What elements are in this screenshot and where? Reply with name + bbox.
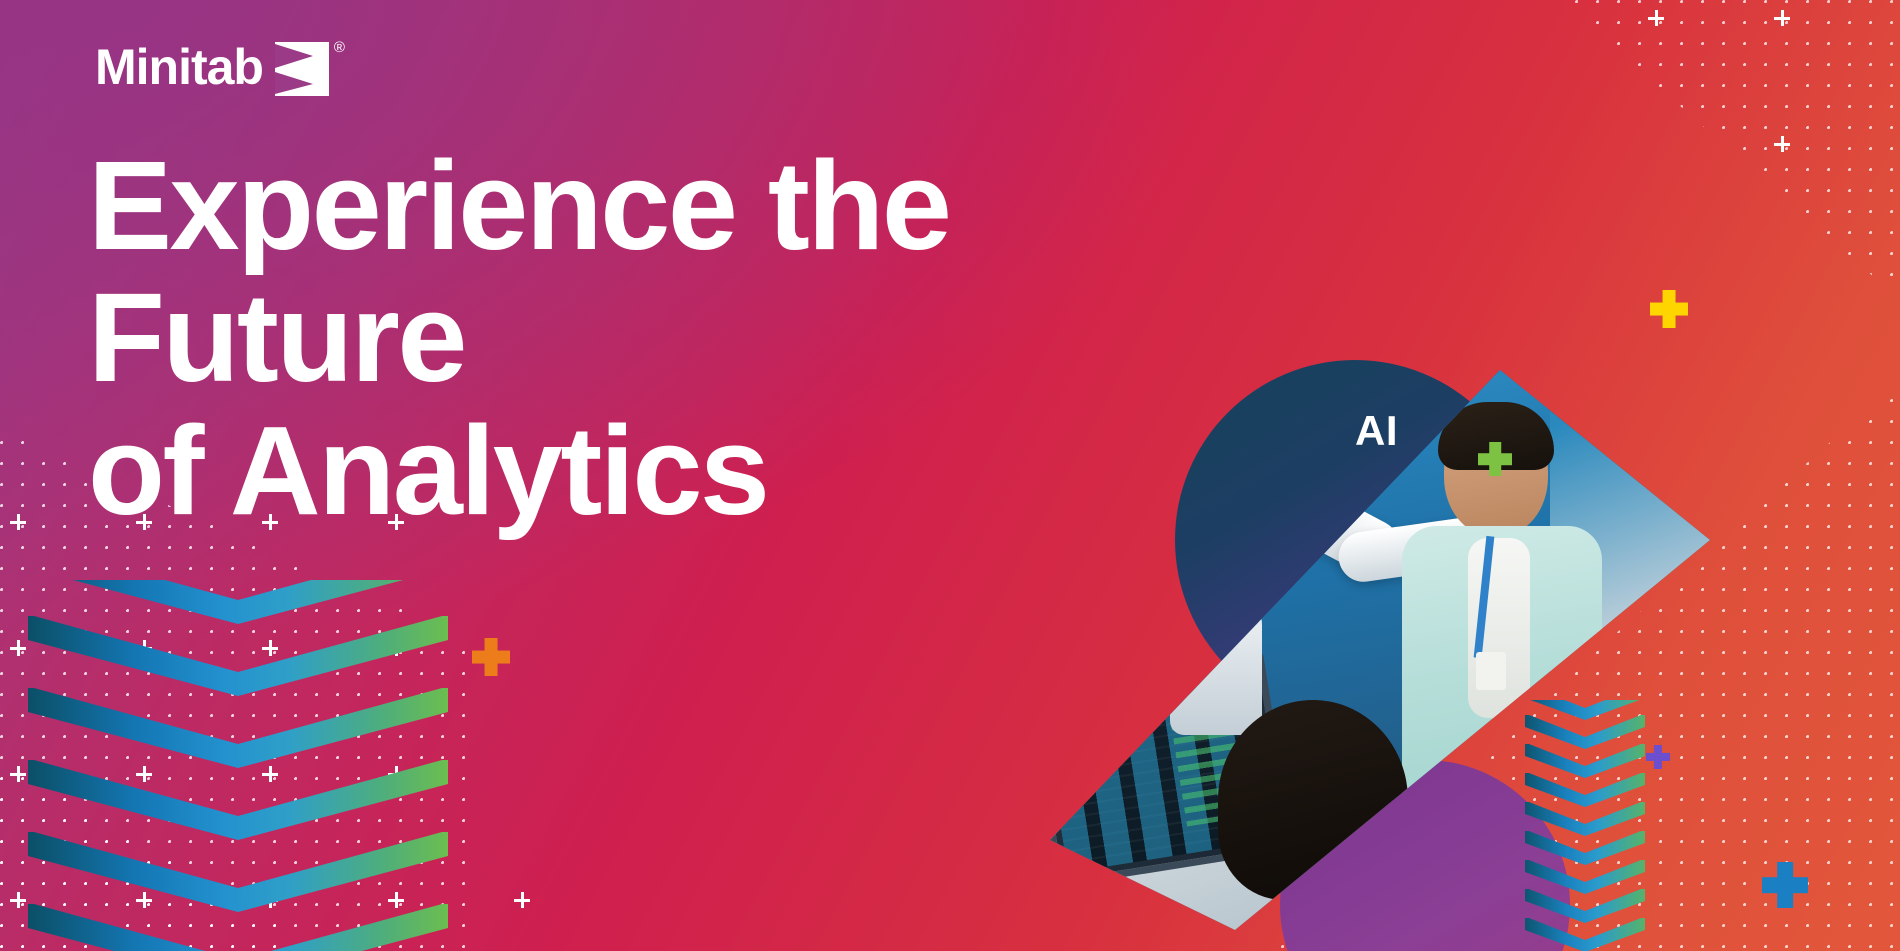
- ai-badge-label: AI: [1355, 410, 1398, 452]
- dot-plus-mark: [1648, 10, 1664, 26]
- registered-trademark-icon: ®: [334, 40, 345, 55]
- plus-blue-icon: [1762, 862, 1808, 908]
- minitab-logo[interactable]: Minitab ®: [95, 38, 329, 96]
- page-title: Experience the Future of Analytics: [88, 140, 1268, 537]
- plus-green-icon: [1478, 442, 1512, 476]
- engineer-badge: [1476, 652, 1506, 690]
- minitab-wordmark: Minitab: [95, 42, 263, 92]
- plus-purple-icon: [1646, 745, 1670, 769]
- dot-plus-mark: [1774, 10, 1790, 26]
- headline-line-1: Experience the Future: [88, 135, 949, 408]
- headline-line-2: of Analytics: [88, 405, 1268, 537]
- dot-plus-mark: [10, 514, 26, 530]
- chevron-pattern-left: [28, 580, 448, 951]
- hero-banner: AI Minitab ® Experience the Future of An…: [0, 0, 1900, 951]
- dot-plus-mark: [10, 640, 26, 656]
- plus-yellow-icon: [1650, 290, 1688, 328]
- dot-plus-mark: [10, 766, 26, 782]
- minitab-bowtie-icon: ®: [275, 42, 329, 96]
- dot-plus-mark: [1774, 136, 1790, 152]
- plus-orange-icon: [472, 638, 510, 676]
- dot-plus-mark: [10, 892, 26, 908]
- chevron-pattern-right: [1525, 700, 1645, 951]
- dot-plus-mark: [514, 892, 530, 908]
